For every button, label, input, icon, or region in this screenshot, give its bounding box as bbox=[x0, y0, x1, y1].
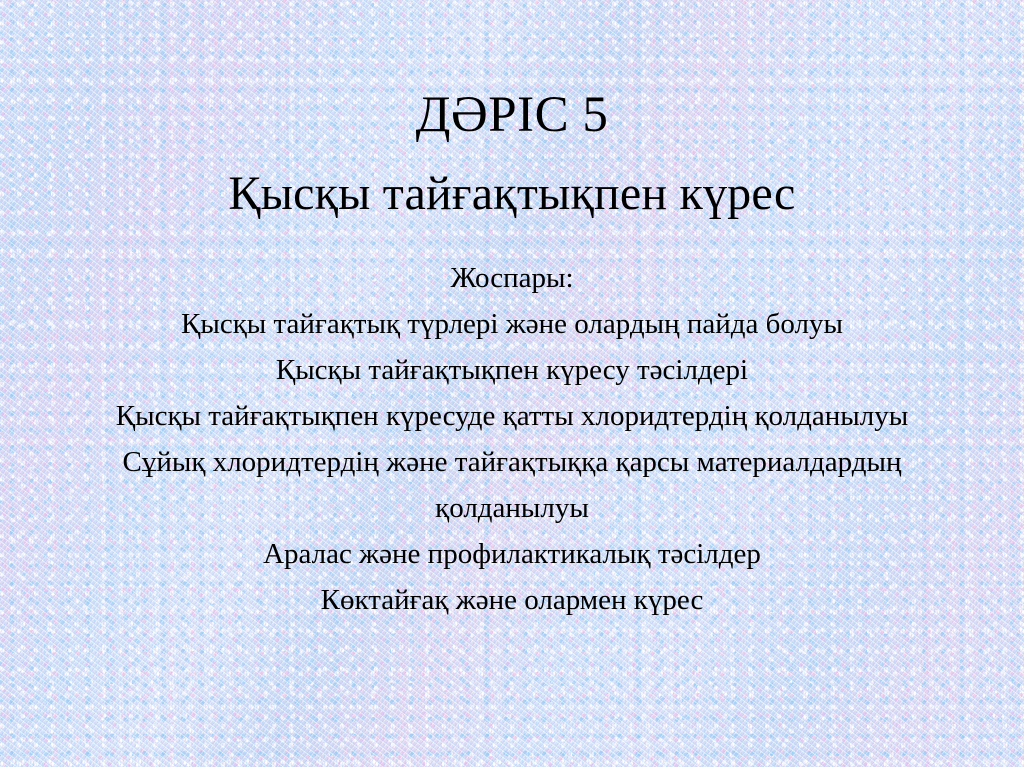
plan-list-item: Сұйық хлоридтердің және тайғақтыққа қарс… bbox=[0, 439, 1024, 531]
plan-list-item: Көктайғақ және олармен күрес bbox=[0, 577, 1024, 623]
plan-list-item: Қысқы тайғақтықпен күресуде қатты хлорид… bbox=[0, 393, 1024, 439]
slide-title-block: ДӘРІС 5 Қысқы тайғақтықпен күрес bbox=[0, 86, 1024, 222]
slide-title-line-2: Қысқы тайғақтықпен күрес bbox=[0, 166, 1024, 222]
plan-list-item: Қысқы тайғақтық түрлері және олардың пай… bbox=[0, 301, 1024, 347]
plan-list: Қысқы тайғақтық түрлері және олардың пай… bbox=[0, 301, 1024, 623]
presentation-slide: ДӘРІС 5 Қысқы тайғақтықпен күрес Жоспары… bbox=[0, 0, 1024, 767]
slide-content: ДӘРІС 5 Қысқы тайғақтықпен күрес Жоспары… bbox=[0, 0, 1024, 767]
plan-heading: Жоспары: bbox=[0, 255, 1024, 301]
plan-list-item: Қысқы тайғақтықпен күресу тәсілдері bbox=[0, 347, 1024, 393]
slide-title-line-1: ДӘРІС 5 bbox=[0, 86, 1024, 144]
plan-list-item: Аралас және профилактикалық тәсілдер bbox=[0, 531, 1024, 577]
plan-block: Жоспары: Қысқы тайғақтық түрлері және ол… bbox=[0, 255, 1024, 623]
